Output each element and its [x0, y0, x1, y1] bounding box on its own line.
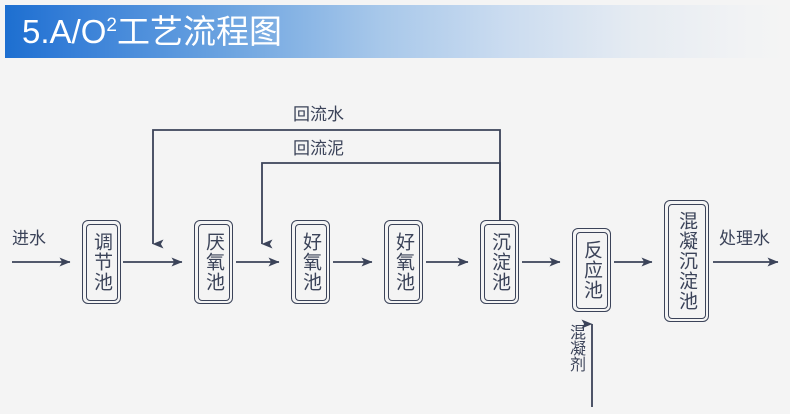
- label-outlet: 处理水: [719, 229, 770, 249]
- page-header-bar: 5.A/O2工艺流程图: [5, 5, 790, 58]
- process-box-inner: 厌氧池: [198, 224, 230, 301]
- process-box-anaerobic-tank[interactable]: 厌氧池: [194, 220, 233, 304]
- process-box-inner: 混凝沉淀池: [668, 204, 706, 319]
- process-box-inner: 好氧池: [388, 224, 420, 301]
- page-title-suffix: 工艺流程图: [117, 13, 282, 50]
- process-box-label: 混凝沉淀池: [674, 211, 699, 311]
- process-box-aerobic-tank-1[interactable]: 好氧池: [291, 220, 330, 304]
- process-box-reaction-tank[interactable]: 反应池: [572, 228, 611, 312]
- process-box-aerobic-tank-2[interactable]: 好氧池: [384, 220, 423, 304]
- label-recycle-water: 回流水: [293, 105, 344, 125]
- process-box-label: 沉淀池: [487, 232, 512, 292]
- process-box-label: 好氧池: [298, 232, 323, 292]
- process-box-label: 好氧池: [391, 232, 416, 292]
- page-title-prefix: 5.A/O: [22, 13, 106, 50]
- process-box-inner: 好氧池: [295, 224, 327, 301]
- process-flow-diagram: 调节池 厌氧池 好氧池 好氧池 沉淀池 反应池: [0, 62, 790, 414]
- process-box-label: 厌氧池: [201, 232, 226, 292]
- label-recycle-sludge: 回流泥: [293, 139, 344, 159]
- process-box-equalization-tank[interactable]: 调节池: [82, 220, 121, 304]
- page-title-superscript: 2: [106, 15, 117, 36]
- process-box-inner: 反应池: [576, 232, 608, 309]
- flow-chart-page: 5.A/O2工艺流程图: [0, 0, 790, 414]
- process-box-label: 反应池: [579, 240, 604, 300]
- process-box-sedimentation-tank[interactable]: 沉淀池: [480, 220, 519, 304]
- process-box-coagulation-sedimentation-tank[interactable]: 混凝沉淀池: [664, 200, 709, 322]
- page-title: 5.A/O2工艺流程图: [22, 13, 282, 51]
- process-box-inner: 调节池: [86, 224, 118, 301]
- process-box-inner: 沉淀池: [484, 224, 516, 301]
- label-inlet: 进水: [12, 229, 46, 249]
- label-coagulant: 混凝剂: [566, 324, 585, 372]
- process-box-label: 调节池: [89, 232, 114, 292]
